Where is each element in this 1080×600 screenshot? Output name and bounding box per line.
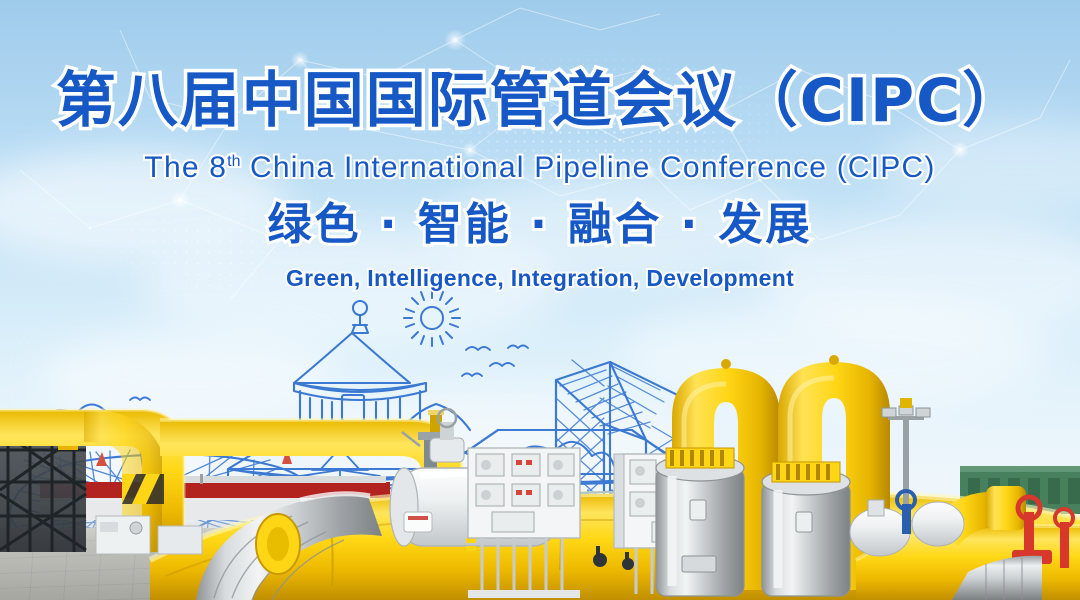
pipeline-station-photo [0, 260, 1080, 600]
vertical-separator-vessel-2 [762, 462, 850, 596]
auxiliary-equipment [96, 516, 202, 554]
vertical-separator-vessel-1 [656, 448, 744, 596]
yellow-valve-wheel [256, 514, 300, 574]
conference-banner: 第八届中国国际管道会议（CIPC） The 8th China Internat… [0, 0, 1080, 600]
